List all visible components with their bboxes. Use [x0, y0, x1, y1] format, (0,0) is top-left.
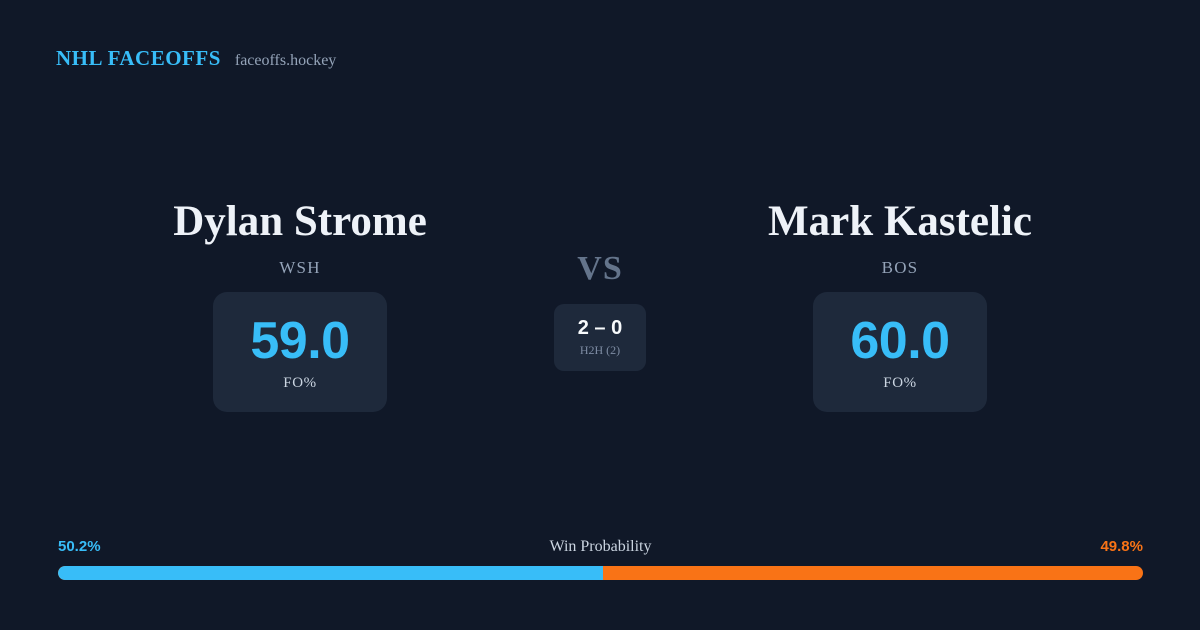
player-card-right[interactable]: Mark Kastelic BOS 60.0 FO%	[690, 196, 1110, 412]
site-header: NHL FACEOFFS faceoffs.hockey	[56, 46, 336, 71]
player-team-right: BOS	[882, 258, 919, 278]
brand-logo-text[interactable]: NHL FACEOFFS	[56, 46, 221, 71]
win-probability-title: Win Probability	[549, 538, 651, 556]
stat-label-left: FO%	[283, 375, 316, 392]
head-to-head-label: H2H (2)	[580, 343, 620, 358]
stat-label-right: FO%	[883, 375, 916, 392]
stat-value-left: 59.0	[250, 313, 349, 369]
win-probability-left-value: 50.2%	[58, 538, 101, 555]
player-team-left: WSH	[279, 258, 320, 278]
player-card-left[interactable]: Dylan Strome WSH 59.0 FO%	[90, 196, 510, 412]
win-probability-bar	[58, 566, 1143, 580]
win-probability-section: 50.2% Win Probability 49.8%	[58, 538, 1143, 580]
site-domain-text: faceoffs.hockey	[235, 52, 336, 70]
player-name-right: Mark Kastelic	[768, 196, 1032, 248]
player-name-left: Dylan Strome	[173, 196, 427, 248]
win-probability-right-value: 49.8%	[1100, 538, 1143, 555]
stat-card-right: 60.0 FO%	[813, 292, 987, 412]
matchup-container: Dylan Strome WSH 59.0 FO% VS 2 – 0 H2H (…	[0, 196, 1200, 412]
win-probability-bar-left-fill	[58, 566, 603, 580]
stat-value-right: 60.0	[850, 313, 949, 369]
stat-card-left: 59.0 FO%	[213, 292, 387, 412]
win-probability-labels: 50.2% Win Probability 49.8%	[58, 538, 1143, 556]
head-to-head-score: 2 – 0	[578, 317, 622, 340]
head-to-head-card: 2 – 0 H2H (2)	[554, 304, 646, 371]
versus-column: VS 2 – 0 H2H (2)	[510, 196, 690, 371]
versus-label: VS	[577, 250, 622, 288]
